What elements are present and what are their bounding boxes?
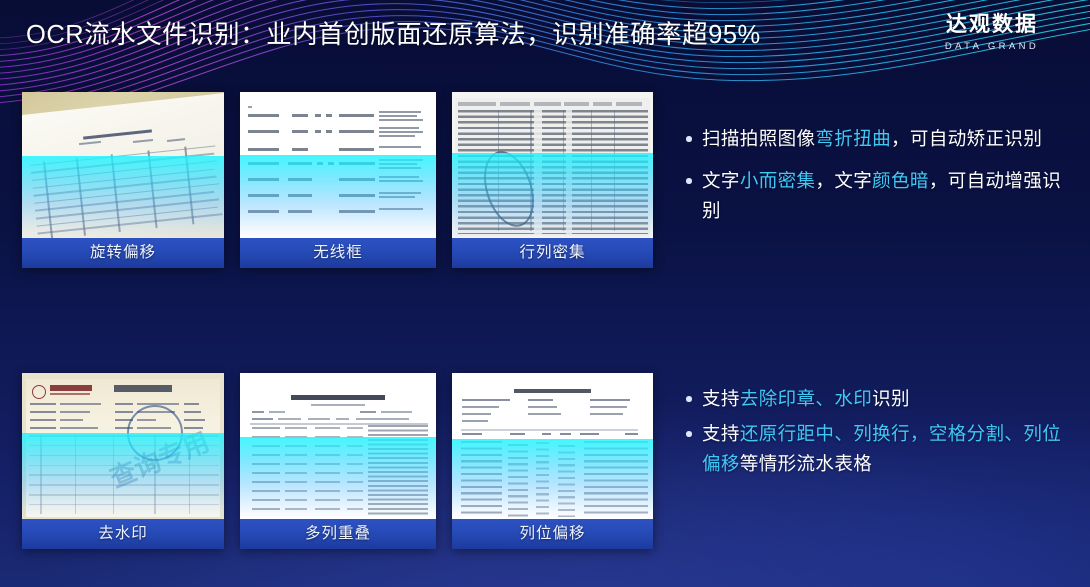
card-remove-watermark[interactable]: 查询专用 去水印 [22,373,224,549]
logo-chinese-name: 达观数据 [912,8,1072,38]
card-multi-col-overlap-image [240,373,436,519]
plain-text: 识别 [872,388,910,409]
plain-text: 支持 [702,388,740,409]
card-multi-col-overlap[interactable]: 多列重叠 [240,373,436,549]
plain-text: ，可自动矫正识别 [891,128,1042,149]
bullet-distortion-text: 扫描拍照图像弯折扭曲，可自动矫正识别 [702,124,1074,154]
slide-header: OCR流水文件识别：业内首创版面还原算法，识别准确率超95% 达观数据 DATA… [0,0,1090,72]
plain-text: 扫描拍照图像 [702,128,815,149]
card-borderless-caption: 无线框 [240,238,436,268]
bullet-small-dense-text-text: 文字小而密集，文字颜色暗，可自动增强识别 [702,166,1074,226]
bullet-list-bottom: 支持去除印章、水印识别 支持还原行距中、列换行，空格分割、列位偏移等情形流水表格 [682,384,1074,483]
highlighted-text: 小而密集 [740,170,816,191]
plain-text: ，文字 [815,170,872,191]
bullet-remove-stamp-watermark: 支持去除印章、水印识别 [682,384,1074,414]
highlighted-text: 颜色暗 [872,170,929,191]
card-rotation-offset-image [22,92,224,238]
brand-logo: 达观数据 DATA GRAND [912,8,1072,52]
card-rotation-offset[interactable]: 旋转偏移 [22,92,224,268]
bullet-list-top: 扫描拍照图像弯折扭曲，可自动矫正识别 文字小而密集，文字颜色暗，可自动增强识别 [682,124,1074,230]
plain-text: 文字 [702,170,740,191]
card-rotation-offset-caption: 旋转偏移 [22,238,224,268]
bullet-restore-layout-text: 支持还原行距中、列换行，空格分割、列位偏移等情形流水表格 [702,419,1074,479]
card-borderless[interactable]: 无线框 [240,92,436,268]
bullet-distortion: 扫描拍照图像弯折扭曲，可自动矫正识别 [682,124,1074,154]
plain-text: 等情形流水表格 [740,453,872,474]
doc-title-bar [291,395,385,400]
card-borderless-image [240,92,436,238]
page-title: OCR流水文件识别：业内首创版面还原算法，识别准确率超95% [26,14,761,51]
card-column-shift-caption: 列位偏移 [452,519,653,549]
slide-canvas: OCR流水文件识别：业内首创版面还原算法，识别准确率超95% 达观数据 DATA… [0,0,1090,587]
bullet-small-dense-text: 文字小而密集，文字颜色暗，可自动增强识别 [682,166,1074,226]
bullet-remove-stamp-watermark-text: 支持去除印章、水印识别 [702,384,1074,414]
highlighted-text: 弯折扭曲 [815,128,891,149]
card-remove-watermark-image: 查询专用 [22,373,224,519]
plain-text: 支持 [702,423,740,444]
bullet-restore-layout: 支持还原行距中、列换行，空格分割、列位偏移等情形流水表格 [682,419,1074,479]
logo-english-name: DATA GRAND [912,41,1072,52]
card-multi-col-overlap-caption: 多列重叠 [240,519,436,549]
card-dense-rows-cols-image [452,92,653,238]
highlighted-text: 去除印章、水印 [740,388,872,409]
card-column-shift[interactable]: 列位偏移 [452,373,653,549]
card-remove-watermark-caption: 去水印 [22,519,224,549]
card-dense-rows-cols-caption: 行列密集 [452,238,653,268]
card-column-shift-image [452,373,653,519]
card-dense-rows-cols[interactable]: 行列密集 [452,92,653,268]
